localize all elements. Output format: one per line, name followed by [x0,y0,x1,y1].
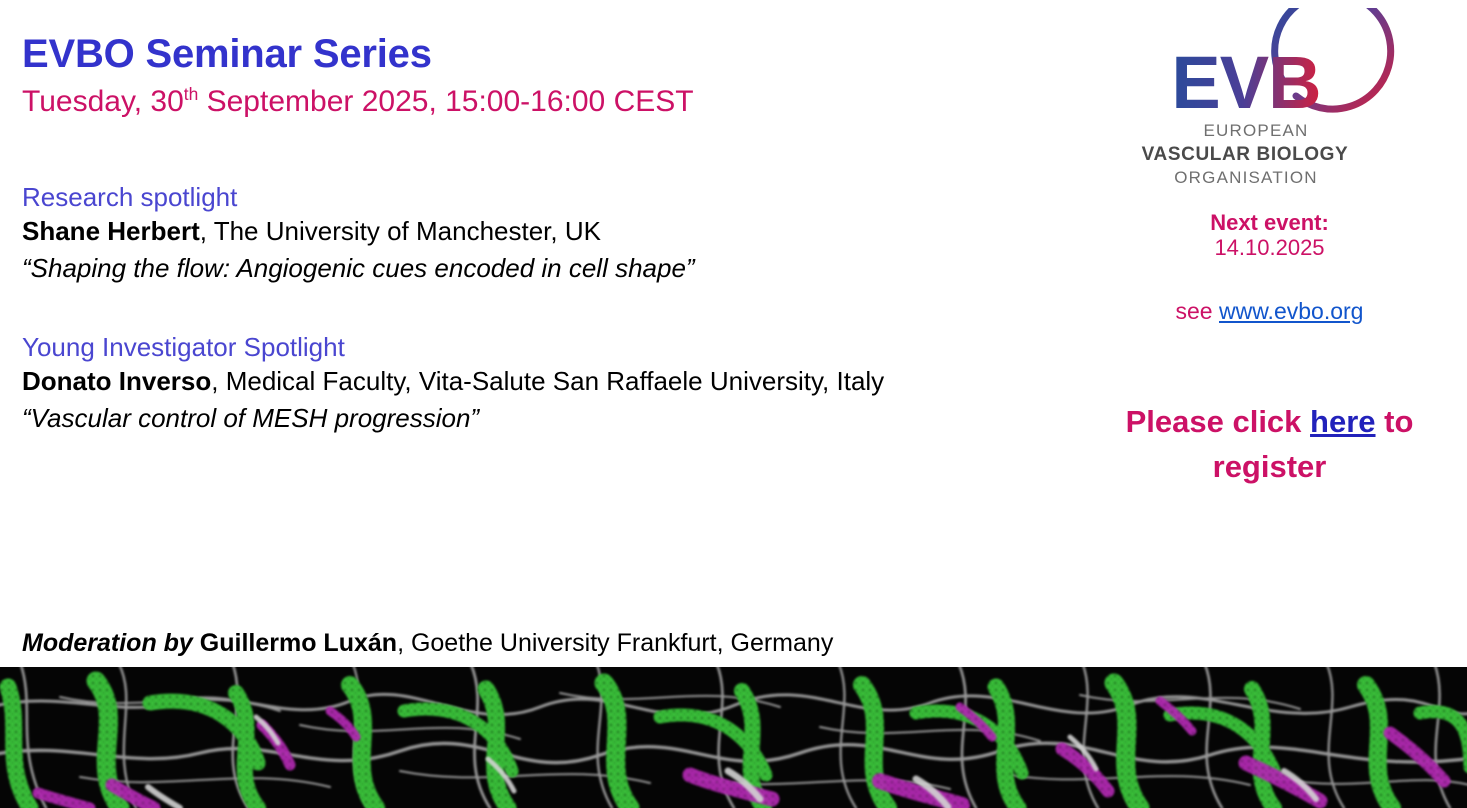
talk-title: “Vascular control of MESH progression” [22,405,1072,431]
speaker-affiliation: , Medical Faculty, Vita-Salute San Raffa… [211,366,884,396]
event-date-prefix: Tuesday, 30 [22,85,184,118]
evbo-logo: EVB EUROPEAN VASCULAR BIOLOGY ORGANISATI… [1120,8,1420,198]
session-research-spotlight: Research spotlight Shane Herbert, The Un… [22,117,1072,281]
next-event-block: Next event: 14.10.2025 [1072,211,1467,260]
logo-line-vascular-biology: VASCULAR BIOLOGY [1141,144,1348,165]
event-date-suffix: September 2025, 15:00-16:00 CEST [198,85,693,118]
moderator-name: Guillermo Luxán [200,629,397,657]
evb-wordmark: EVB [1171,41,1320,124]
moderation-line: Moderation by Guillermo Luxán, Goethe Un… [22,631,833,656]
see-label: see [1176,298,1219,324]
evbo-logo-icon: EVB EUROPEAN VASCULAR BIOLOGY ORGANISATI… [1120,8,1420,198]
moderation-lead: Moderation by [22,629,200,657]
session-label: Young Investigator Spotlight [22,334,1072,360]
microscopy-footer-image [0,667,1467,808]
next-event-date: 14.10.2025 [1072,236,1467,261]
session-label: Research spotlight [22,184,1072,210]
speaker-affiliation: , The University of Manchester, UK [200,216,601,246]
speaker-name: Donato Inverso [22,366,211,396]
register-cta: Please click here to register [1072,400,1467,490]
website-line: see www.evbo.org [1072,298,1467,325]
vascular-network-illustration [0,667,1467,808]
date-ordinal-suffix: th [184,84,199,104]
speaker-line: Donato Inverso, Medical Faculty, Vita-Sa… [22,368,1072,394]
logo-line-european: EUROPEAN [1203,121,1308,140]
evbo-website-link[interactable]: www.evbo.org [1219,298,1363,324]
page-title: EVBO Seminar Series [22,0,1072,74]
register-before-text: Please click [1126,404,1310,439]
talk-title: “Shaping the flow: Angiogenic cues encod… [22,255,1072,281]
main-content: EVBO Seminar Series Tuesday, 30th Septem… [22,0,1072,431]
logo-line-organisation: ORGANISATION [1174,168,1318,187]
event-datetime: Tuesday, 30th September 2025, 15:00-16:0… [22,74,1072,117]
register-here-link[interactable]: here [1310,404,1375,439]
speaker-name: Shane Herbert [22,216,200,246]
session-young-investigator-spotlight: Young Investigator Spotlight Donato Inve… [22,281,1072,431]
speaker-line: Shane Herbert, The University of Manches… [22,218,1072,244]
next-event-label: Next event: [1072,211,1467,236]
info-sidebar: EVB EUROPEAN VASCULAR BIOLOGY ORGANISATI… [1072,0,1467,490]
moderator-affiliation: , Goethe University Frankfurt, Germany [397,629,833,657]
